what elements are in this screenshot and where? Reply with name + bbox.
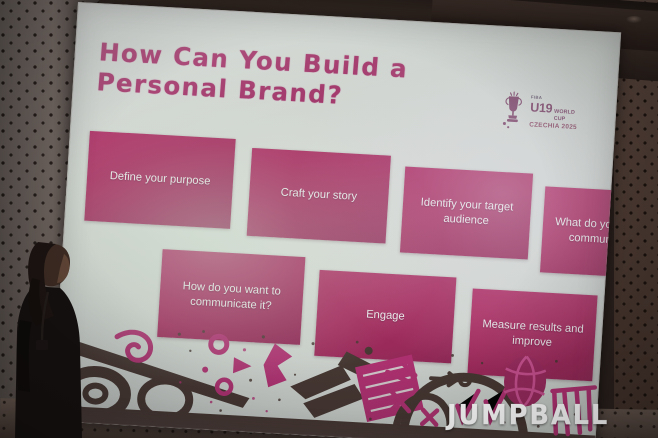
trophy-icon (499, 90, 528, 133)
card-label: Craft your story (280, 186, 357, 205)
card-label: How do you want to communicate it? (169, 278, 294, 315)
host-year-label: CZECHIA 2025 (529, 123, 587, 133)
card-label: What do you want to communicate? (552, 215, 621, 251)
competition-age-class: U19 WORLD CUP (529, 102, 588, 125)
card-identify-your-target-audience[interactable]: Identify your target audience (400, 167, 533, 260)
card-what-do-you-want-to-communicate[interactable]: What do you want to communicate? (540, 186, 621, 279)
card-craft-your-story[interactable]: Craft your story (247, 148, 391, 244)
projection-screen: How Can You Build a Personal Brand? (52, 2, 622, 438)
card-label: Engage (366, 308, 405, 325)
event-logo: FIBA U19 WORLD CUP CZECHIA 2025 (499, 88, 590, 139)
photo-scene: How Can You Build a Personal Brand? (0, 0, 658, 438)
ceiling-light-icon (626, 16, 642, 23)
jumpball-watermark: JUMPBALL (447, 398, 609, 431)
world-cup-label: WORLD CUP (553, 109, 588, 124)
slide-surface: How Can You Build a Personal Brand? (52, 2, 622, 438)
slide-title: How Can You Build a Personal Brand? (96, 37, 530, 121)
presenter-silhouette (8, 228, 100, 438)
event-logo-text: FIBA U19 WORLD CUP CZECHIA 2025 (529, 96, 589, 132)
card-label: Define your purpose (109, 169, 211, 190)
card-define-your-purpose[interactable]: Define your purpose (84, 131, 235, 229)
u19-label: U19 (530, 102, 553, 116)
card-label: Identify your target audience (412, 195, 522, 231)
